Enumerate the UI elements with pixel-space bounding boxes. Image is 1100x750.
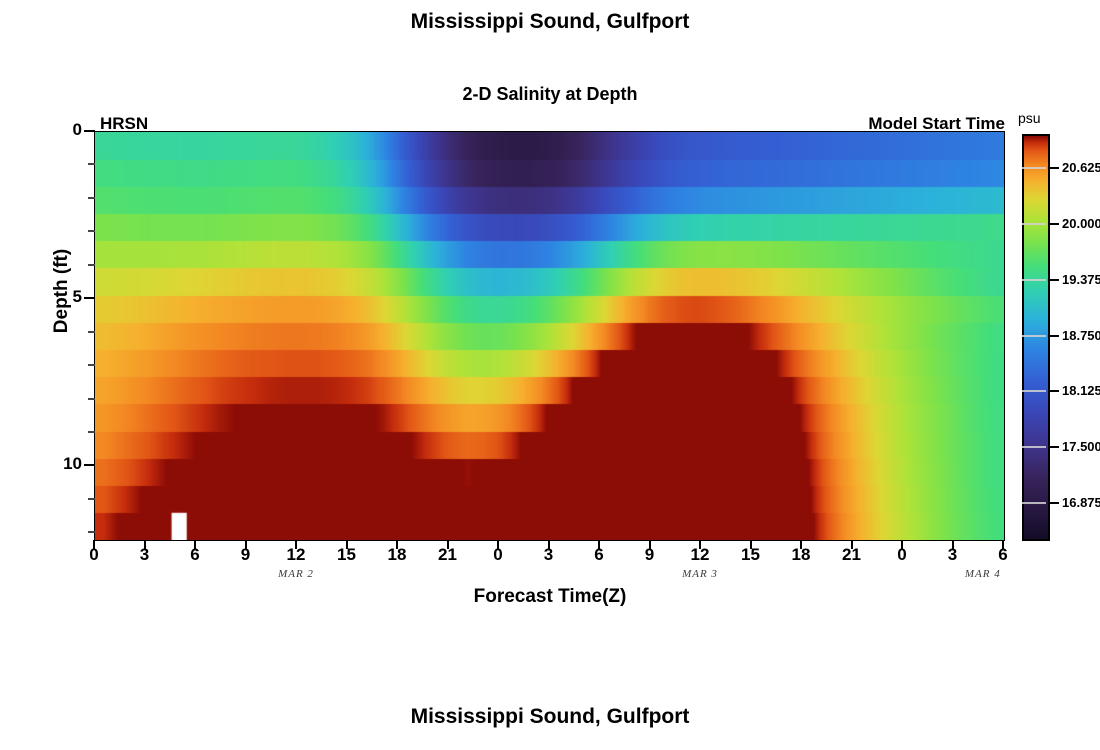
x-axis-tick-mark [952,540,954,549]
y-axis-minor-tick [88,230,95,232]
x-axis-label: Forecast Time(Z) [0,586,1100,608]
x-axis-date-label: MAR 4 [938,568,1028,580]
colorbar-canvas [1024,136,1048,539]
colorbar-tick-label: 18.750 [1062,328,1100,343]
x-axis-tick-mark [649,540,651,549]
x-axis-tick-mark [851,540,853,549]
colorbar-tick-mark [1050,390,1059,392]
colorbar-tick-mark [1050,223,1059,225]
colorbar-tick-gridline [1022,502,1046,504]
y-axis-tick-mark [84,130,95,132]
x-axis-tick-mark [93,540,95,549]
y-axis-minor-tick [88,431,95,433]
colorbar-tick-gridline [1022,446,1046,448]
x-axis-date-label: MAR 2 [251,568,341,580]
x-axis-tick-mark [497,540,499,549]
colorbar-tick-gridline [1022,335,1046,337]
y-axis-tick-mark [84,464,95,466]
y-axis-tick-mark [84,297,95,299]
colorbar-tick-label: 18.125 [1062,383,1100,398]
colorbar-tick-gridline [1022,279,1046,281]
x-axis-tick-mark [901,540,903,549]
x-axis-tick-mark [800,540,802,549]
y-axis-minor-tick [88,498,95,500]
colorbar-tick-gridline [1022,167,1046,169]
x-axis-tick-mark [447,540,449,549]
colorbar-tick-mark [1050,335,1059,337]
colorbar-tick-label: 16.875 [1062,495,1100,510]
colorbar-tick-mark [1050,167,1059,169]
y-axis-tick-label: 5 [42,287,82,307]
colorbar-tick-label: 19.375 [1062,272,1100,287]
colorbar-unit-label: psu [1018,110,1078,126]
x-axis-tick-mark [548,540,550,549]
x-axis-tick-mark [750,540,752,549]
x-axis-tick-mark [1002,540,1004,549]
colorbar [1022,134,1050,541]
y-axis-minor-tick [88,264,95,266]
x-axis-tick-mark [295,540,297,549]
footer-title: Mississippi Sound, Gulfport [0,705,1100,729]
x-axis-tick-mark [396,540,398,549]
colorbar-tick-label: 17.500 [1062,439,1100,454]
x-axis-tick-mark [598,540,600,549]
colorbar-tick-mark [1050,502,1059,504]
x-axis-tick-mark [245,540,247,549]
colorbar-tick-mark [1050,446,1059,448]
colorbar-tick-gridline [1022,390,1046,392]
y-axis-minor-tick [88,364,95,366]
heatmap-plot-area [94,131,1005,541]
y-axis-minor-tick [88,163,95,165]
y-axis-minor-tick [88,331,95,333]
y-axis-tick-label: 10 [42,454,82,474]
x-axis-tick-mark [144,540,146,549]
colorbar-tick-gridline [1022,223,1046,225]
colorbar-tick-label: 20.625 [1062,160,1100,175]
y-axis-tick-label: 0 [42,120,82,140]
y-axis-minor-tick [88,531,95,533]
y-axis-minor-tick [88,398,95,400]
x-axis-date-label: MAR 3 [655,568,745,580]
salinity-heatmap-canvas [95,132,1004,540]
colorbar-tick-mark [1050,279,1059,281]
colorbar-tick-label: 20.000 [1062,216,1100,231]
x-axis-tick-mark [346,540,348,549]
page-title: Mississippi Sound, Gulfport [0,10,1100,34]
x-axis-tick-mark [699,540,701,549]
y-axis-minor-tick [88,197,95,199]
x-axis-tick-mark [194,540,196,549]
